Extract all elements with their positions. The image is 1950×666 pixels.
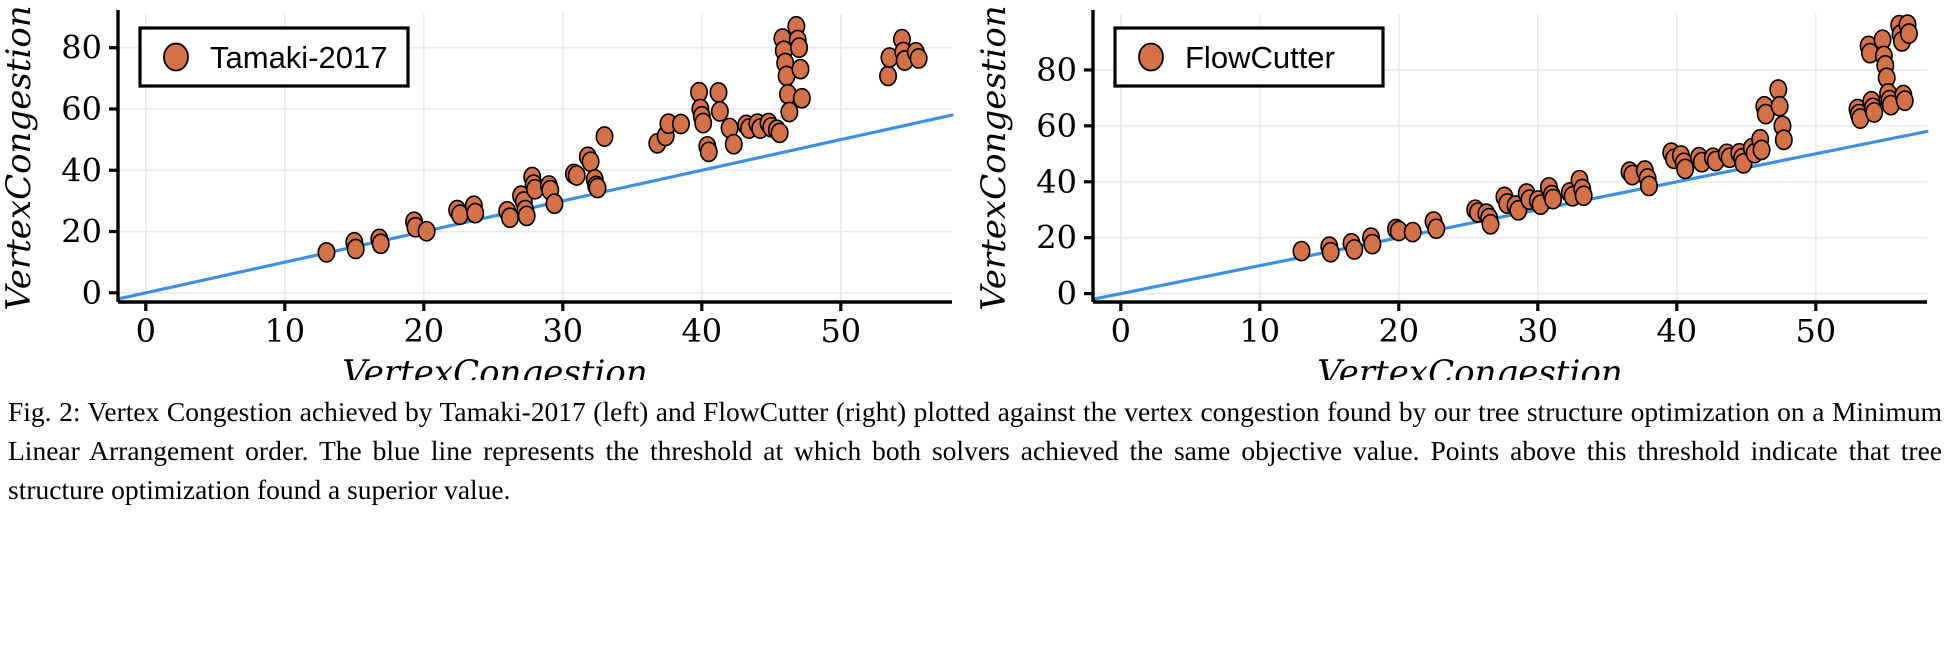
data-point — [701, 142, 717, 161]
data-point — [569, 166, 585, 185]
legend[interactable]: Tamaki-2017 — [140, 28, 408, 86]
x-tick-label: 40 — [681, 312, 722, 350]
scatter-plot-left: 01020304050020406080VertexCongestionVert… — [0, 0, 975, 380]
data-point — [781, 102, 797, 121]
y-tick-label: 20 — [61, 213, 102, 251]
data-point — [673, 114, 689, 133]
chart-panels: 01020304050020406080VertexCongestionVert… — [0, 0, 1950, 380]
data-point — [596, 127, 612, 146]
data-point — [1901, 24, 1917, 43]
x-tick-label: 0 — [136, 312, 156, 350]
x-tick-label: 30 — [542, 312, 583, 350]
data-point — [880, 66, 896, 85]
plot-area: 01020304050020406080VertexCongestionVert… — [975, 5, 1927, 380]
data-point — [710, 83, 726, 102]
x-axis-title: VertexCongestion — [342, 353, 647, 380]
data-point — [318, 243, 334, 262]
y-tick-label: 20 — [1036, 219, 1077, 257]
data-point — [1482, 215, 1498, 234]
legend[interactable]: FlowCutter — [1115, 28, 1383, 86]
data-point — [1405, 222, 1421, 241]
data-point — [1575, 186, 1591, 205]
x-tick-label: 50 — [820, 312, 861, 350]
data-point — [502, 208, 518, 227]
plot-area: 01020304050020406080VertexCongestionVert… — [0, 5, 952, 380]
data-point — [347, 239, 363, 258]
figure-caption: Fig. 2: Vertex Congestion achieved by Ta… — [8, 392, 1942, 509]
data-point — [712, 102, 728, 121]
x-tick-label: 50 — [1795, 312, 1836, 350]
data-point — [1677, 159, 1693, 178]
data-point — [1897, 91, 1913, 110]
data-point — [1866, 103, 1882, 122]
legend-label: FlowCutter — [1185, 40, 1335, 75]
y-tick-label: 80 — [61, 29, 102, 67]
data-point — [518, 206, 534, 225]
data-point — [1776, 130, 1792, 149]
data-point — [794, 89, 810, 108]
legend-marker-icon — [1139, 44, 1163, 71]
data-point — [1641, 176, 1657, 195]
y-tick-label: 60 — [61, 90, 102, 128]
y-tick-label: 80 — [1036, 51, 1077, 89]
legend-label: Tamaki-2017 — [210, 40, 387, 75]
data-point — [1346, 240, 1362, 259]
x-tick-label: 40 — [1656, 312, 1697, 350]
data-point — [1753, 140, 1769, 159]
data-point — [1545, 190, 1561, 209]
data-point — [467, 204, 483, 223]
data-point — [1293, 242, 1309, 261]
data-point — [1428, 219, 1444, 238]
data-point — [1322, 243, 1338, 262]
x-tick-label: 10 — [1239, 312, 1280, 350]
data-point — [695, 113, 711, 132]
y-tick-label: 40 — [61, 151, 102, 189]
data-point — [910, 49, 926, 68]
legend-marker-icon — [164, 44, 188, 71]
data-point — [373, 234, 389, 253]
data-point — [418, 222, 434, 241]
y-axis-title: VertexCongestion — [0, 5, 39, 310]
y-axis-title: VertexCongestion — [975, 5, 1014, 310]
data-point — [582, 152, 598, 171]
figure-container: 01020304050020406080VertexCongestionVert… — [0, 0, 1950, 666]
data-point — [726, 135, 742, 154]
data-point — [546, 194, 562, 213]
data-point — [589, 178, 605, 197]
y-tick-label: 60 — [1036, 107, 1077, 145]
data-point — [771, 123, 787, 142]
data-point — [1364, 235, 1380, 254]
x-tick-label: 0 — [1111, 312, 1131, 350]
x-tick-label: 20 — [1378, 312, 1419, 350]
y-tick-label: 40 — [1036, 163, 1077, 201]
x-axis-title: VertexCongestion — [1317, 353, 1622, 380]
data-point — [1771, 97, 1787, 116]
x-tick-label: 30 — [1517, 312, 1558, 350]
chart-panel-left: 01020304050020406080VertexCongestionVert… — [0, 0, 975, 380]
data-point — [791, 38, 807, 57]
y-tick-label: 0 — [82, 274, 102, 312]
scatter-plot-right: 01020304050020406080VertexCongestionVert… — [975, 0, 1950, 380]
x-tick-label: 20 — [403, 312, 444, 350]
x-tick-label: 10 — [264, 312, 305, 350]
y-tick-label: 0 — [1057, 275, 1077, 313]
data-point — [792, 60, 808, 79]
chart-panel-right: 01020304050020406080VertexCongestionVert… — [975, 0, 1950, 380]
